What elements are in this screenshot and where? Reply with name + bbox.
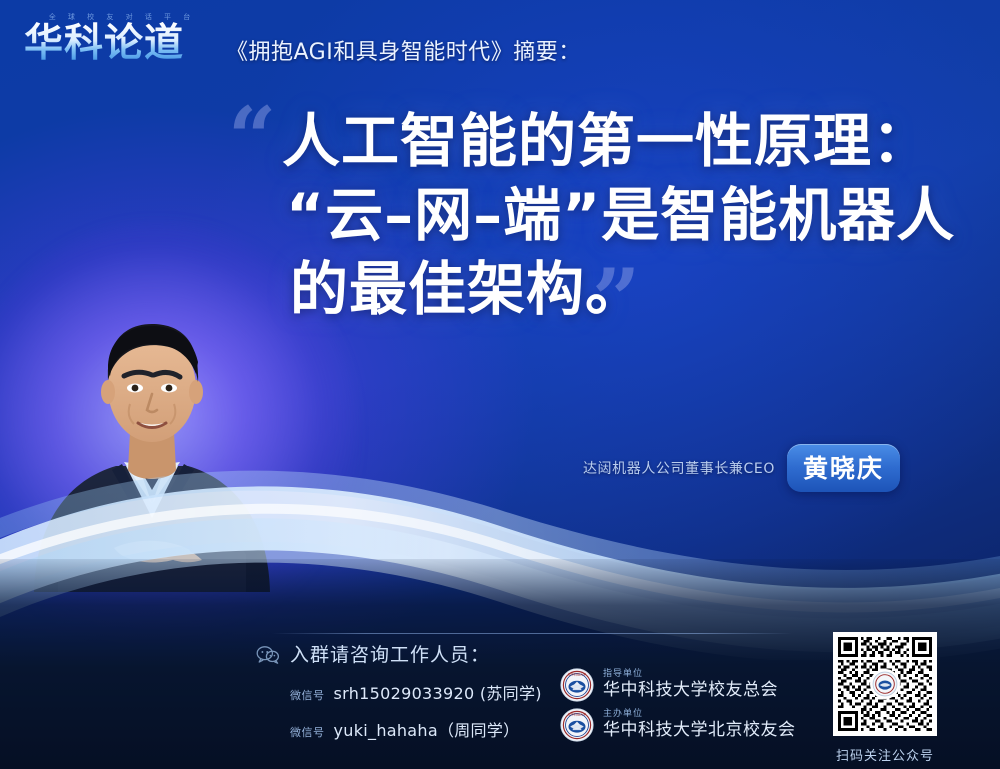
section-divider — [272, 633, 792, 634]
brand-logo-title: 华科论道 — [24, 22, 220, 66]
quote-line-2: “云–网–端”是智能机器人 — [286, 178, 962, 252]
wechat-label: 微信号 — [290, 724, 325, 740]
speaker-name-badge: 黄晓庆 — [787, 444, 900, 492]
wechat-id[interactable]: yuki_hahaha（周同学） — [334, 717, 520, 741]
brand-logo[interactable]: 全 球 校 友 对 话 平 台 华科论道 — [24, 16, 220, 66]
svg-text:华中科技大学: 华中科技大学 — [568, 672, 586, 677]
quote-open-mark: “ — [228, 96, 276, 180]
organizer-kind: 指导单位 — [603, 670, 778, 679]
organizer-item: 华中科技大学 主办单位 华中科技大学北京校友会 — [560, 708, 796, 742]
organizer-name: 华中科技大学校友总会 — [603, 682, 778, 700]
qr-caption: 扫码关注公众号 — [833, 745, 937, 764]
hust-seal-icon: 华中科技大学 — [560, 668, 594, 702]
quote-line-1: 人工智能的第一性原理： — [282, 104, 962, 178]
speaker-title: 达闼机器人公司董事长兼CEO — [583, 458, 775, 478]
organizer-name: 华中科技大学北京校友会 — [603, 722, 796, 740]
contact-header: 入群请咨询工作人员： — [256, 640, 542, 667]
contact-title: 入群请咨询工作人员： — [290, 640, 490, 667]
contact-section: 入群请咨询工作人员： 微信号 srh15029033920 (苏同学) 微信号 … — [256, 640, 542, 741]
wechat-row: 微信号 srh15029033920 (苏同学) — [290, 680, 542, 704]
quote-block: 人工智能的第一性原理： “云–网–端”是智能机器人 的最佳架构。 — [282, 104, 962, 326]
qr-code-icon[interactable] — [833, 632, 937, 736]
hust-seal-icon — [872, 671, 898, 697]
svg-text:华中科技大学: 华中科技大学 — [568, 712, 586, 717]
poster-canvas: 全 球 校 友 对 话 平 台 华科论道 《拥抱AGI和具身智能时代》摘要： “… — [0, 0, 1000, 769]
page-title: 《拥抱AGI和具身智能时代》摘要： — [226, 34, 581, 66]
wechat-label: 微信号 — [290, 687, 325, 703]
organizer-item: 华中科技大学 指导单位 华中科技大学校友总会 — [560, 668, 796, 702]
qr-center-logo — [872, 671, 898, 697]
wechat-id[interactable]: srh15029033920 (苏同学) — [334, 680, 542, 704]
organizer-kind: 主办单位 — [603, 710, 796, 719]
hust-seal-icon: 华中科技大学 — [560, 708, 594, 742]
header-bar: 全 球 校 友 对 话 平 台 华科论道 《拥抱AGI和具身智能时代》摘要： — [0, 0, 1000, 92]
wechat-icon — [256, 644, 280, 664]
organizer-list: 华中科技大学 指导单位 华中科技大学校友总会 华中科技大学 主办单位 华中科技大… — [560, 668, 796, 748]
qr-section: 扫码关注公众号 — [833, 632, 937, 764]
speaker-attribution: 达闼机器人公司董事长兼CEO 黄晓庆 — [583, 444, 900, 492]
quote-line-3: 的最佳架构。 — [290, 252, 962, 326]
wechat-row: 微信号 yuki_hahaha（周同学） — [290, 717, 542, 741]
